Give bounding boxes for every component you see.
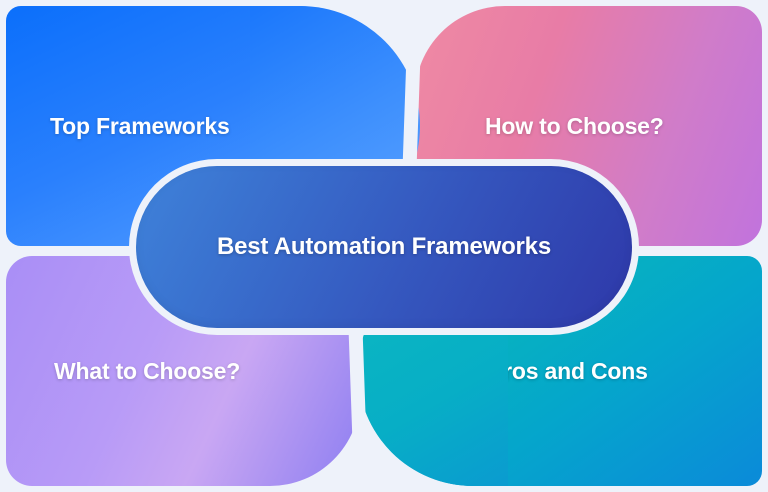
panel-label-top-frameworks: Top Frameworks — [50, 113, 230, 140]
center-pill[interactable]: Best Automation Frameworks — [136, 166, 632, 328]
infographic-canvas: Top Frameworks How to Choose? What to Ch… — [0, 0, 768, 492]
panel-label-how-to-choose: How to Choose? — [485, 113, 664, 140]
center-pill-label: Best Automation Frameworks — [217, 233, 551, 261]
panel-label-pros-and-cons: Pros and Cons — [488, 358, 648, 385]
panel-label-what-to-choose: What to Choose? — [54, 358, 240, 385]
